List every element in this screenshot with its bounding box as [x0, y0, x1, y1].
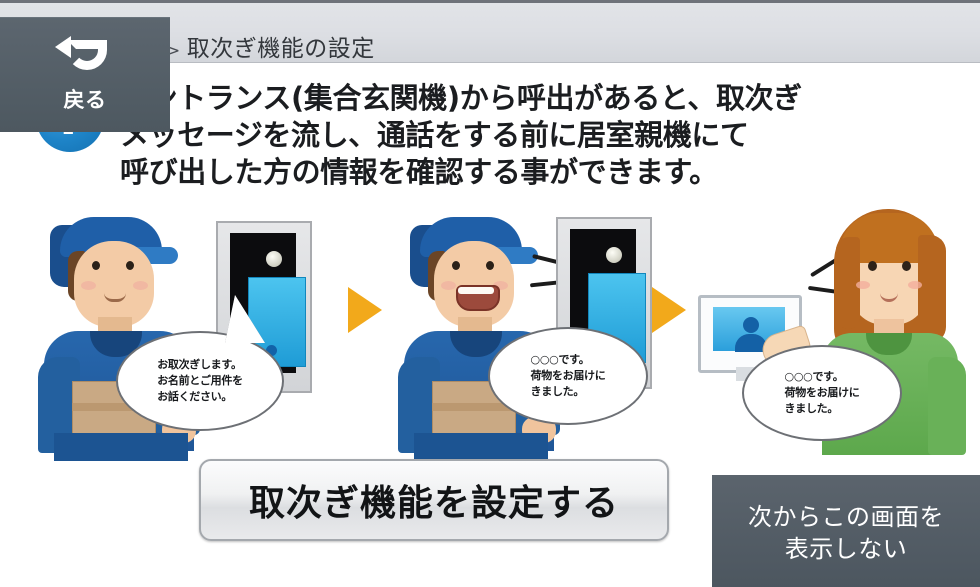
speech-bubble-2: ○○○です。 荷物をお届けに きました。	[488, 327, 648, 425]
scene-entrance-call: お取次ぎします。 お名前とご用件を お話ください。	[20, 203, 340, 461]
back-button-label: 戻る	[0, 84, 170, 114]
bubble3-line-3: きました。	[785, 401, 860, 417]
cheek-left	[856, 281, 870, 289]
bubble2-line-2: 荷物をお届けに	[531, 368, 606, 384]
illustration-stage: お取次ぎします。 お名前とご用件を お話ください。	[0, 203, 980, 461]
cheek-right	[908, 281, 922, 289]
arm-right	[928, 357, 966, 455]
camera-icon	[606, 247, 622, 263]
configure-transfer-function-button[interactable]: 取次ぎ機能を設定する	[199, 459, 669, 541]
speech-bubble-3-text: ○○○です。 荷物をお届けに きました。	[785, 369, 860, 417]
description-text: エントランス(集合玄関機)から呼出があると、取次ぎ メッセージを流し、通話をする…	[120, 80, 970, 191]
settings-screen: 設定する>取次ぎ機能の設定 ? エントランス(集合玄関機)から呼出があると、取次…	[0, 0, 980, 587]
scene-announce-message: ○○○です。 荷物をお届けに きました。	[380, 203, 680, 461]
description-line-3: 呼び出した方の情報を確認する事ができます。	[120, 154, 970, 191]
progress-arrow-1-icon	[348, 287, 382, 333]
bubble1-line-1: お取次ぎします。	[157, 357, 243, 373]
eye-right	[126, 261, 134, 270]
teeth-shape	[458, 287, 494, 294]
bubble2-line-3: きました。	[531, 384, 606, 400]
undo-arrow-icon	[53, 36, 117, 78]
back-button[interactable]: 戻る	[0, 17, 170, 132]
uniform-lower	[414, 433, 548, 461]
eye-right	[486, 261, 494, 270]
bubble1-line-3: お話ください。	[157, 389, 243, 405]
description-line-2: メッセージを流し、通話をする前に居室親機にて	[120, 117, 970, 154]
camera-icon	[266, 251, 282, 267]
scene-indoor-check: ○○○です。 荷物をお届けに きました。	[690, 203, 970, 461]
speech-bubble-1-text: お取次ぎします。 お名前とご用件を お話ください。	[157, 357, 243, 405]
speech-bubble-1: お取次ぎします。 お名前とご用件を お話ください。	[116, 331, 284, 431]
uniform-lower	[54, 433, 188, 461]
visitor-silhouette-head	[743, 317, 759, 333]
bubble2-line-1: ○○○です。	[531, 352, 606, 368]
speech-bubble-1-tail	[225, 295, 265, 343]
bubble1-line-2: お名前とご用件を	[157, 373, 243, 389]
speech-bubble-2-text: ○○○です。 荷物をお届けに きました。	[531, 352, 606, 400]
undo-arrow-curve	[67, 40, 107, 70]
eye-right	[902, 261, 911, 271]
eye-left	[92, 261, 100, 270]
bubble3-line-1: ○○○です。	[785, 369, 860, 385]
do-not-show-again-button[interactable]: 次からこの画面を 表示しない	[712, 475, 980, 587]
description-line-1: エントランス(集合玄関機)から呼出があると、取次ぎ	[120, 80, 970, 117]
hide-line-1: 次からこの画面を	[748, 501, 944, 533]
undo-arrow-head	[55, 36, 71, 58]
hide-line-2: 表示しない	[748, 533, 944, 565]
cheek-left	[441, 281, 456, 290]
breadcrumb-current: 取次ぎ機能の設定	[187, 36, 375, 62]
configure-transfer-function-label: 取次ぎ機能を設定する	[249, 474, 619, 526]
speech-bubble-3: ○○○です。 荷物をお届けに きました。	[742, 345, 902, 441]
eye-left	[868, 261, 877, 271]
cheek-left	[81, 281, 96, 290]
progress-arrow-2-icon	[652, 287, 686, 333]
eye-left	[452, 261, 460, 270]
hair-right-shape	[918, 235, 946, 343]
cheek-right	[133, 281, 148, 290]
bubble3-line-2: 荷物をお届けに	[785, 385, 860, 401]
do-not-show-again-label: 次からこの画面を 表示しない	[748, 501, 944, 565]
